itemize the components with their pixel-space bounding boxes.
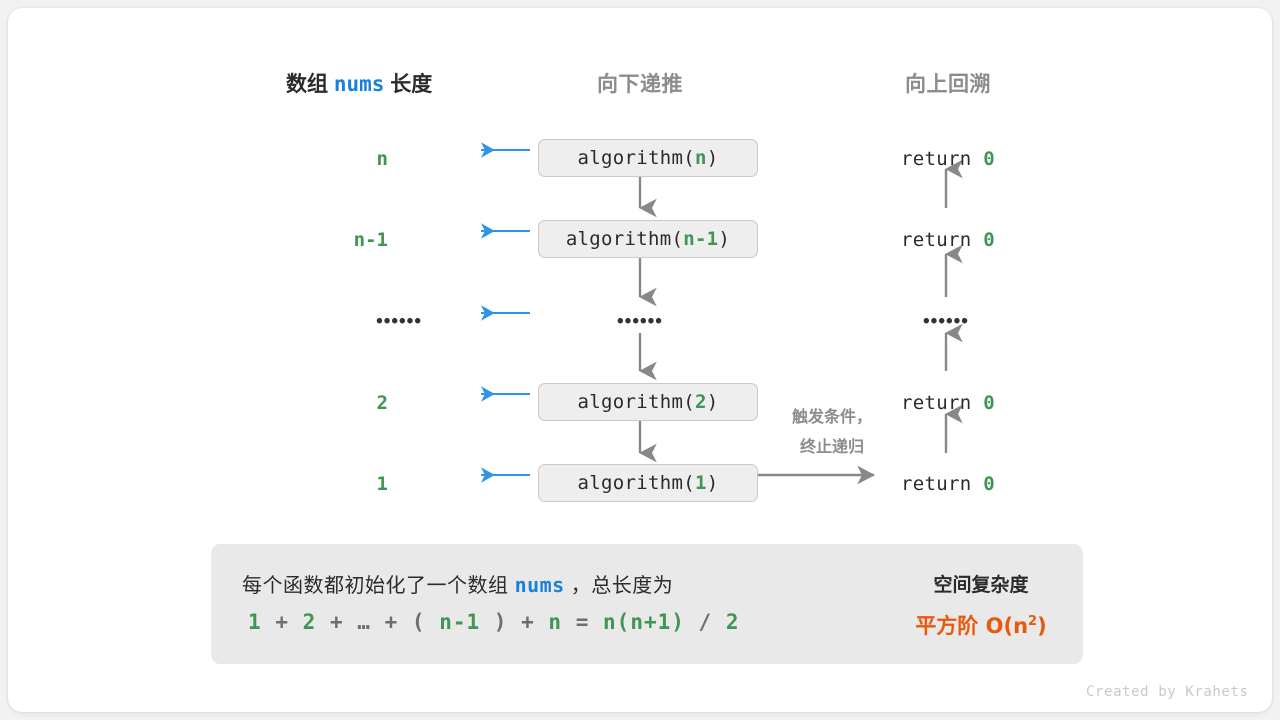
formula-token-5: + — [385, 610, 399, 634]
call-arg-row-1: n-1 — [683, 228, 718, 250]
call-box-row-0[interactable]: algorithm(n) — [538, 139, 758, 177]
call-arg-row-3: 2 — [695, 391, 707, 413]
summary-panel — [211, 544, 1083, 664]
return-value-row-0: 0 — [983, 148, 995, 170]
header-left-suffix: 长度 — [390, 73, 432, 96]
summary-text-after: ，总长度为 — [571, 575, 674, 597]
terminate-note-line-1: 触发条件， — [767, 402, 897, 432]
return-keyword-row-0: return — [901, 148, 983, 170]
return-value-row-4: 0 — [983, 473, 995, 495]
summary-formula: 1 + 2 + … + ( n-1 ) + n = n(n+1) / 2 — [248, 610, 740, 634]
formula-token-2: 2 — [303, 610, 317, 634]
call-arg-row-0: n — [695, 147, 707, 169]
return-ellipsis-row-2: •••••• — [910, 311, 982, 333]
call-suffix-row-0: ) — [707, 147, 719, 169]
depth-label-row-0: n — [278, 148, 388, 170]
column-header-right: 向上回溯 — [905, 68, 991, 98]
diagram-card: 数组 nums 长度 向下递推 向上回溯 n algorithm(n) retu… — [8, 8, 1272, 712]
array-alloc-arrows — [481, 150, 530, 475]
depth-label-row-1: n-1 — [278, 229, 388, 251]
call-prefix-row-4: algorithm( — [578, 472, 695, 494]
call-suffix-row-1: ) — [718, 228, 730, 250]
depth-ellipsis-row-2: •••••• — [350, 311, 422, 333]
formula-token-13: / — [699, 610, 713, 634]
return-value-row-3: 0 — [983, 392, 995, 414]
call-box-row-4[interactable]: algorithm(1) — [538, 464, 758, 502]
call-ellipsis-row-2: •••••• — [604, 311, 676, 333]
formula-token-1: + — [275, 610, 289, 634]
column-header-middle: 向下递推 — [597, 68, 683, 98]
formula-token-12: n(n+1) — [603, 610, 685, 634]
summary-text-before: 每个函数都初始化了一个数组 — [242, 575, 509, 597]
call-prefix-row-0: algorithm( — [578, 147, 695, 169]
return-label-row-3: return 0 — [901, 392, 995, 414]
terminate-note-line-2: 终止递归 — [767, 432, 897, 462]
summary-line-1: 每个函数都初始化了一个数组 nums ，总长度为 — [242, 569, 673, 598]
complexity-title: 空间复杂度 — [901, 570, 1061, 597]
complexity-value-prefix: 平方阶 O(n — [915, 614, 1028, 638]
call-box-row-1[interactable]: algorithm(n-1) — [538, 220, 758, 258]
return-value-row-1: 0 — [983, 229, 995, 251]
return-keyword-row-1: return — [901, 229, 983, 251]
formula-token-11: = — [576, 610, 590, 634]
column-header-left: 数组 nums 长度 — [286, 68, 432, 98]
formula-token-8: ) — [494, 610, 508, 634]
complexity-value: 平方阶 O(n2) — [881, 610, 1081, 640]
header-left-prefix: 数组 — [286, 73, 328, 96]
call-prefix-row-1: algorithm( — [566, 228, 683, 250]
return-label-row-1: return 0 — [901, 229, 995, 251]
complexity-value-suffix: ) — [1037, 614, 1047, 638]
complexity-value-exponent: 2 — [1028, 614, 1037, 629]
formula-token-3: + — [330, 610, 344, 634]
formula-token-7: n-1 — [439, 610, 480, 634]
call-suffix-row-4: ) — [707, 472, 719, 494]
return-keyword-row-4: return — [901, 473, 983, 495]
formula-token-14: 2 — [726, 610, 740, 634]
formula-token-9: + — [521, 610, 535, 634]
formula-token-10: n — [548, 610, 562, 634]
formula-token-4: … — [357, 610, 371, 634]
call-suffix-row-3: ) — [707, 391, 719, 413]
credit-text: Created by Krahets — [1086, 684, 1249, 700]
return-label-row-4: return 0 — [901, 473, 995, 495]
summary-code-nums: nums — [515, 573, 565, 597]
terminate-condition-note: 触发条件， 终止递归 — [767, 402, 897, 462]
header-left-code: nums — [334, 72, 385, 96]
call-prefix-row-3: algorithm( — [578, 391, 695, 413]
call-arg-row-4: 1 — [695, 472, 707, 494]
return-keyword-row-3: return — [901, 392, 983, 414]
depth-label-row-3: 2 — [278, 392, 388, 414]
call-box-row-3[interactable]: algorithm(2) — [538, 383, 758, 421]
formula-token-6: ( — [412, 610, 426, 634]
formula-token-0: 1 — [248, 610, 262, 634]
depth-label-row-4: 1 — [278, 473, 388, 495]
return-label-row-0: return 0 — [901, 148, 995, 170]
